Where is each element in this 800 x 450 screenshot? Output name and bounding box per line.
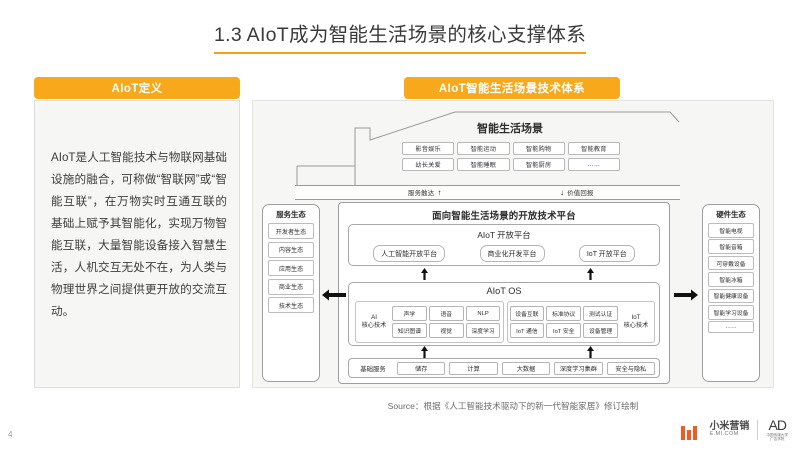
iot-chip[interactable]: IoT 通信 — [510, 323, 545, 338]
ai-core-tech-group: AI 核心技术 声学 语音 NLP 知识图谱 视觉 深度学习 — [355, 301, 504, 343]
arrow-up-icon — [586, 268, 595, 280]
iot-chip[interactable]: 标准协议 — [546, 306, 581, 321]
eco-cell[interactable]: 应用生态 — [268, 260, 314, 276]
source-note: Source：根据《人工智能技术驱动下的新一代智能家居》修订绘制 — [252, 400, 774, 412]
scene-cell[interactable]: …… — [568, 158, 620, 171]
slide-canvas: 1.3 AIoT成为智能生活场景的核心支撑体系 AIoT定义 AIoT是人工智能… — [0, 0, 800, 450]
base-services-label: 基础服务 — [353, 364, 393, 373]
definition-panel: AIoT是人工智能技术与物联网基础设施的融合，可称做“智联网”或“智能互联”，在… — [34, 100, 240, 388]
iot-chip[interactable]: 测试认证 — [583, 306, 618, 321]
iot-chip[interactable]: 设备管理 — [583, 323, 618, 338]
eco-cell[interactable]: 智能音箱 — [708, 239, 754, 254]
scene-cell[interactable]: 智能购物 — [513, 142, 565, 155]
scene-grid: 影音娱乐 智能运动 智能购物 智能教育 幼长关爱 智能睡眠 智能厨房 …… — [402, 142, 620, 171]
footer-divider — [757, 420, 758, 440]
ai-chip[interactable]: 声学 — [392, 306, 427, 321]
flow-band — [295, 185, 680, 200]
arrow-down-icon: ↓ — [560, 189, 564, 197]
ai-chip-grid: 声学 语音 NLP 知识图谱 视觉 深度学习 — [392, 306, 501, 338]
service-ecosystem-column: 服务生态 开发者生态 内容生态 应用生态 商业生态 技术生态 — [262, 204, 320, 382]
ad-school-logo: AD 中国传媒大学 广告学院 — [766, 418, 788, 442]
ad-logo-mark: AD — [768, 418, 785, 432]
footer-logos: 小米营销 E.MI.COM AD 中国传媒大学 广告学院 — [681, 418, 788, 442]
scene-cell[interactable]: 智能运动 — [457, 142, 509, 155]
page-title: 1.3 AIoT成为智能生活场景的核心支撑体系 — [214, 18, 586, 54]
eco-cell[interactable]: 智能健康设备 — [708, 289, 754, 304]
base-cell[interactable]: 深度学习集群 — [554, 362, 602, 375]
scene-cell[interactable]: 智能厨房 — [513, 158, 565, 171]
scene-cell[interactable]: 影音娱乐 — [402, 142, 454, 155]
iot-label-line1: IoT — [620, 314, 652, 322]
ad-sub-line2: 广告学院 — [766, 437, 788, 441]
platform-cell[interactable]: IoT 开放平台 — [579, 245, 635, 262]
base-cell[interactable]: 计算 — [449, 362, 497, 375]
aiot-os-inner: AI 核心技术 声学 语音 NLP 知识图谱 视觉 深度学习 设备互联 标准协议… — [355, 301, 655, 343]
base-services-row: 基础服务 储存 计算 大数据 深度学习集群 安全与隐私 — [348, 358, 660, 378]
eco-cell[interactable]: 技术生态 — [268, 297, 314, 313]
ai-chip[interactable]: 语音 — [429, 306, 464, 321]
ai-label-line2: 核心技术 — [358, 322, 390, 330]
flow-label-service-reach: 服务触达 ↑ — [408, 186, 442, 199]
arrow-left-icon — [322, 288, 346, 302]
flow-label-value-return: ↓ 价值回报 — [560, 186, 594, 199]
arrow-up-icon — [420, 346, 429, 358]
iot-core-tech-label: IoT 核心技术 — [620, 314, 652, 330]
ai-chip[interactable]: 视觉 — [429, 323, 464, 338]
ad-logo-sub: 中国传媒大学 广告学院 — [766, 433, 788, 442]
stack-title: 面向智能生活场景的开放技术平台 — [339, 208, 669, 222]
iot-chip[interactable]: 设备互联 — [510, 306, 545, 321]
eco-cell[interactable]: …… — [708, 321, 754, 333]
ai-chip[interactable]: 深度学习 — [466, 323, 501, 338]
aiot-open-platform-title: AIoT 开放平台 — [349, 229, 659, 241]
arrow-up-icon: ↑ — [437, 189, 441, 197]
arrow-right-icon — [674, 288, 698, 302]
aiot-os-box: AIoT OS AI 核心技术 声学 语音 NLP 知识图谱 视觉 深度学习 — [348, 282, 660, 346]
eco-cell[interactable]: 智能电视 — [708, 223, 754, 238]
mi-logo-icon — [681, 420, 701, 440]
aiot-open-platform-box: AIoT 开放平台 人工智能开放平台 商业化开发平台 IoT 开放平台 — [348, 224, 660, 266]
eco-cell[interactable]: 智能学习设备 — [708, 305, 754, 320]
eco-cell[interactable]: 商业生态 — [268, 279, 314, 295]
ai-label-line1: AI — [358, 314, 390, 322]
scene-cell[interactable]: 幼长关爱 — [402, 158, 454, 171]
mi-brand-en: E.MI.COM — [709, 432, 749, 438]
page-number: 4 — [8, 430, 12, 439]
definition-text: AIoT是人工智能技术与物联网基础设施的融合，可称做“智联网”或“智能互联”，在… — [51, 147, 227, 323]
eco-cell[interactable]: 智能冰箱 — [708, 272, 754, 287]
aiot-os-title: AIoT OS — [349, 286, 659, 296]
iot-chip[interactable]: IoT 安全 — [546, 323, 581, 338]
eco-cell[interactable]: 可穿戴设备 — [708, 256, 754, 271]
ai-core-tech-label: AI 核心技术 — [358, 314, 390, 330]
scene-title: 智能生活场景 — [420, 120, 600, 136]
scene-cell[interactable]: 智能教育 — [568, 142, 620, 155]
iot-core-tech-group: 设备互联 标准协议 测试认证 IoT 通信 IoT 安全 设备管理 IoT 核心… — [507, 301, 656, 343]
base-cell[interactable]: 大数据 — [502, 362, 550, 375]
mi-brand-text: 小米营销 E.MI.COM — [709, 422, 749, 438]
iot-label-line2: 核心技术 — [620, 322, 652, 330]
page-title-wrapper: 1.3 AIoT成为智能生活场景的核心支撑体系 — [0, 18, 800, 54]
eco-cell[interactable]: 开发者生态 — [268, 223, 314, 239]
hardware-ecosystem-title: 硬件生态 — [708, 209, 754, 220]
arrow-up-icon — [586, 346, 595, 358]
eco-cell[interactable]: 内容生态 — [268, 242, 314, 258]
platform-cell[interactable]: 人工智能开放平台 — [373, 245, 445, 262]
hardware-ecosystem-column: 硬件生态 智能电视 智能音箱 可穿戴设备 智能冰箱 智能健康设备 智能学习设备 … — [702, 204, 760, 382]
platform-cell[interactable]: 商业化开发平台 — [480, 245, 545, 262]
flow-right-text: 价值回报 — [567, 188, 593, 197]
scene-cell[interactable]: 智能睡眠 — [457, 158, 509, 171]
section-header-aiot-definition: AIoT定义 — [34, 77, 240, 99]
base-cell[interactable]: 安全与隐私 — [607, 362, 655, 375]
ai-chip[interactable]: 知识图谱 — [392, 323, 427, 338]
base-cell[interactable]: 储存 — [397, 362, 445, 375]
service-ecosystem-title: 服务生态 — [268, 209, 314, 220]
ai-chip[interactable]: NLP — [466, 306, 501, 321]
aiot-open-platform-row: 人工智能开放平台 商业化开发平台 IoT 开放平台 — [349, 245, 659, 262]
iot-chip-grid: 设备互联 标准协议 测试认证 IoT 通信 IoT 安全 设备管理 — [510, 306, 619, 338]
flow-left-text: 服务触达 — [408, 188, 434, 197]
section-header-tech-system: AIoT智能生活场景技术体系 — [404, 77, 620, 99]
arrow-up-icon — [420, 268, 429, 280]
